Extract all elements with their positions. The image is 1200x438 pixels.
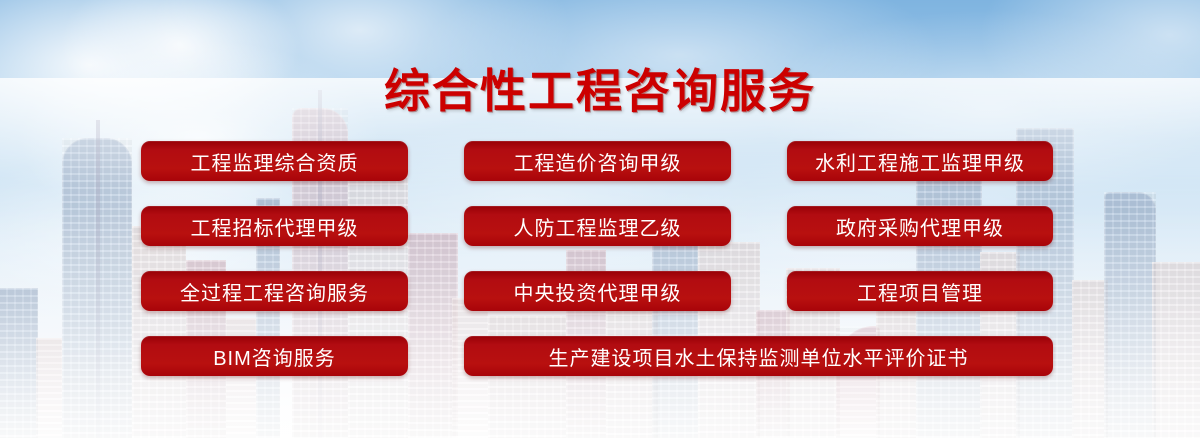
qualification-badge[interactable]: 工程招标代理甲级	[141, 206, 408, 246]
qualification-badge[interactable]: 工程项目管理	[787, 271, 1053, 311]
banner-content: 综合性工程咨询服务 工程监理综合资质 工程造价咨询甲级 水利工程施工监理甲级 工…	[0, 0, 1200, 438]
qualification-badge[interactable]: 中央投资代理甲级	[464, 271, 731, 311]
qualification-row: BIM咨询服务 生产建设项目水土保持监测单位水平评价证书	[141, 336, 1059, 376]
qualification-badge[interactable]: 工程监理综合资质	[141, 141, 408, 181]
qualification-banner: 综合性工程咨询服务 工程监理综合资质 工程造价咨询甲级 水利工程施工监理甲级 工…	[0, 0, 1200, 438]
qualification-row: 工程监理综合资质 工程造价咨询甲级 水利工程施工监理甲级	[141, 141, 1059, 181]
qualification-badge[interactable]: 水利工程施工监理甲级	[787, 141, 1053, 181]
qualification-badge[interactable]: 全过程工程咨询服务	[141, 271, 408, 311]
qualification-badge[interactable]: 工程造价咨询甲级	[464, 141, 731, 181]
qualification-row: 工程招标代理甲级 人防工程监理乙级 政府采购代理甲级	[141, 206, 1059, 246]
qualification-row: 全过程工程咨询服务 中央投资代理甲级 工程项目管理	[141, 271, 1059, 311]
qualification-badge[interactable]: 人防工程监理乙级	[464, 206, 731, 246]
qualification-badge-grid: 工程监理综合资质 工程造价咨询甲级 水利工程施工监理甲级 工程招标代理甲级 人防…	[141, 141, 1059, 376]
qualification-badge[interactable]: 生产建设项目水土保持监测单位水平评价证书	[464, 336, 1053, 376]
page-title: 综合性工程咨询服务	[0, 55, 1200, 121]
qualification-badge[interactable]: 政府采购代理甲级	[787, 206, 1053, 246]
qualification-badge[interactable]: BIM咨询服务	[141, 336, 408, 376]
